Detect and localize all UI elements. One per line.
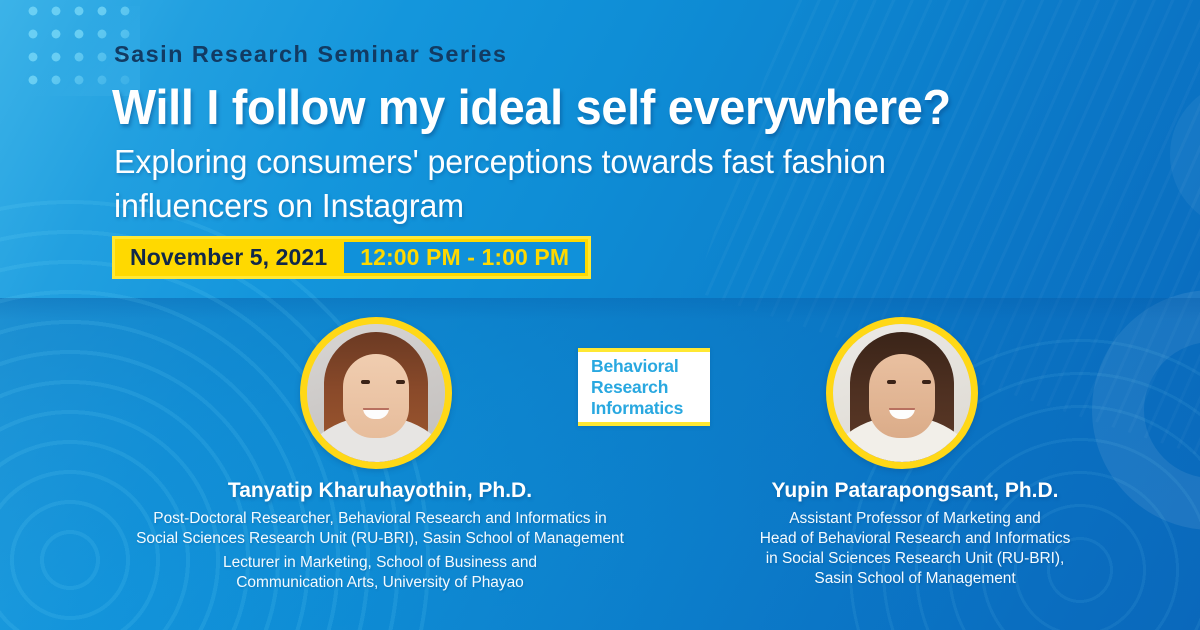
avatar xyxy=(300,317,452,469)
page-subtitle: Exploring consumers' perceptions towards… xyxy=(114,140,1099,228)
logo-line-3: Informatics xyxy=(591,398,710,419)
credential-line: Sasin School of Management xyxy=(695,569,1135,589)
credential-line: Lecturer in Marketing, School of Busines… xyxy=(90,553,670,573)
portrait-eye-left xyxy=(361,380,370,384)
page-subtitle-line-1: Exploring consumers' perceptions towards… xyxy=(114,140,1099,184)
portrait-eye-left xyxy=(887,380,896,384)
logo-line-2: Research xyxy=(591,377,710,398)
avatar xyxy=(826,317,978,469)
schedule-badge: November 5, 2021 12:00 PM - 1:00 PM xyxy=(112,236,591,279)
credential-line: in Social Sciences Research Unit (RU-BRI… xyxy=(695,549,1135,569)
series-eyebrow: Sasin Research Seminar Series xyxy=(114,41,507,68)
credential-line: Head of Behavioral Research and Informat… xyxy=(695,529,1135,549)
poster-content: Sasin Research Seminar Series Will I fol… xyxy=(0,0,1200,630)
seminar-poster: Sasin Research Seminar Series Will I fol… xyxy=(0,0,1200,630)
behavioral-research-informatics-logo: Behavioral Research Informatics xyxy=(578,348,710,426)
speaker-credentials-left-secondary: Lecturer in Marketing, School of Busines… xyxy=(90,553,670,593)
avatar-image-left xyxy=(307,324,445,462)
portrait-face xyxy=(343,354,409,438)
schedule-time: 12:00 PM - 1:00 PM xyxy=(344,242,585,273)
page-title: Will I follow my ideal self everywhere? xyxy=(112,80,951,136)
credential-line: Assistant Professor of Marketing and xyxy=(695,509,1135,529)
portrait-eye-right xyxy=(396,380,405,384)
portrait-eye-right xyxy=(922,380,931,384)
credential-line: Social Sciences Research Unit (RU-BRI), … xyxy=(70,529,690,549)
speaker-name-right: Yupin Patarapongsant, Ph.D. xyxy=(700,479,1130,503)
credential-line: Post-Doctoral Researcher, Behavioral Res… xyxy=(70,509,690,529)
speaker-name-left: Tanyatip Kharuhayothin, Ph.D. xyxy=(90,479,670,503)
logo-line-1: Behavioral xyxy=(591,356,710,377)
portrait-face xyxy=(869,354,935,438)
schedule-date: November 5, 2021 xyxy=(118,242,344,273)
speaker-credentials-left-primary: Post-Doctoral Researcher, Behavioral Res… xyxy=(70,509,690,549)
credential-line: Communication Arts, University of Phayao xyxy=(90,573,670,593)
speaker-credentials-right-primary: Assistant Professor of Marketing and Hea… xyxy=(695,509,1135,589)
avatar-image-right xyxy=(833,324,971,462)
page-subtitle-line-2: influencers on Instagram xyxy=(114,184,1099,228)
